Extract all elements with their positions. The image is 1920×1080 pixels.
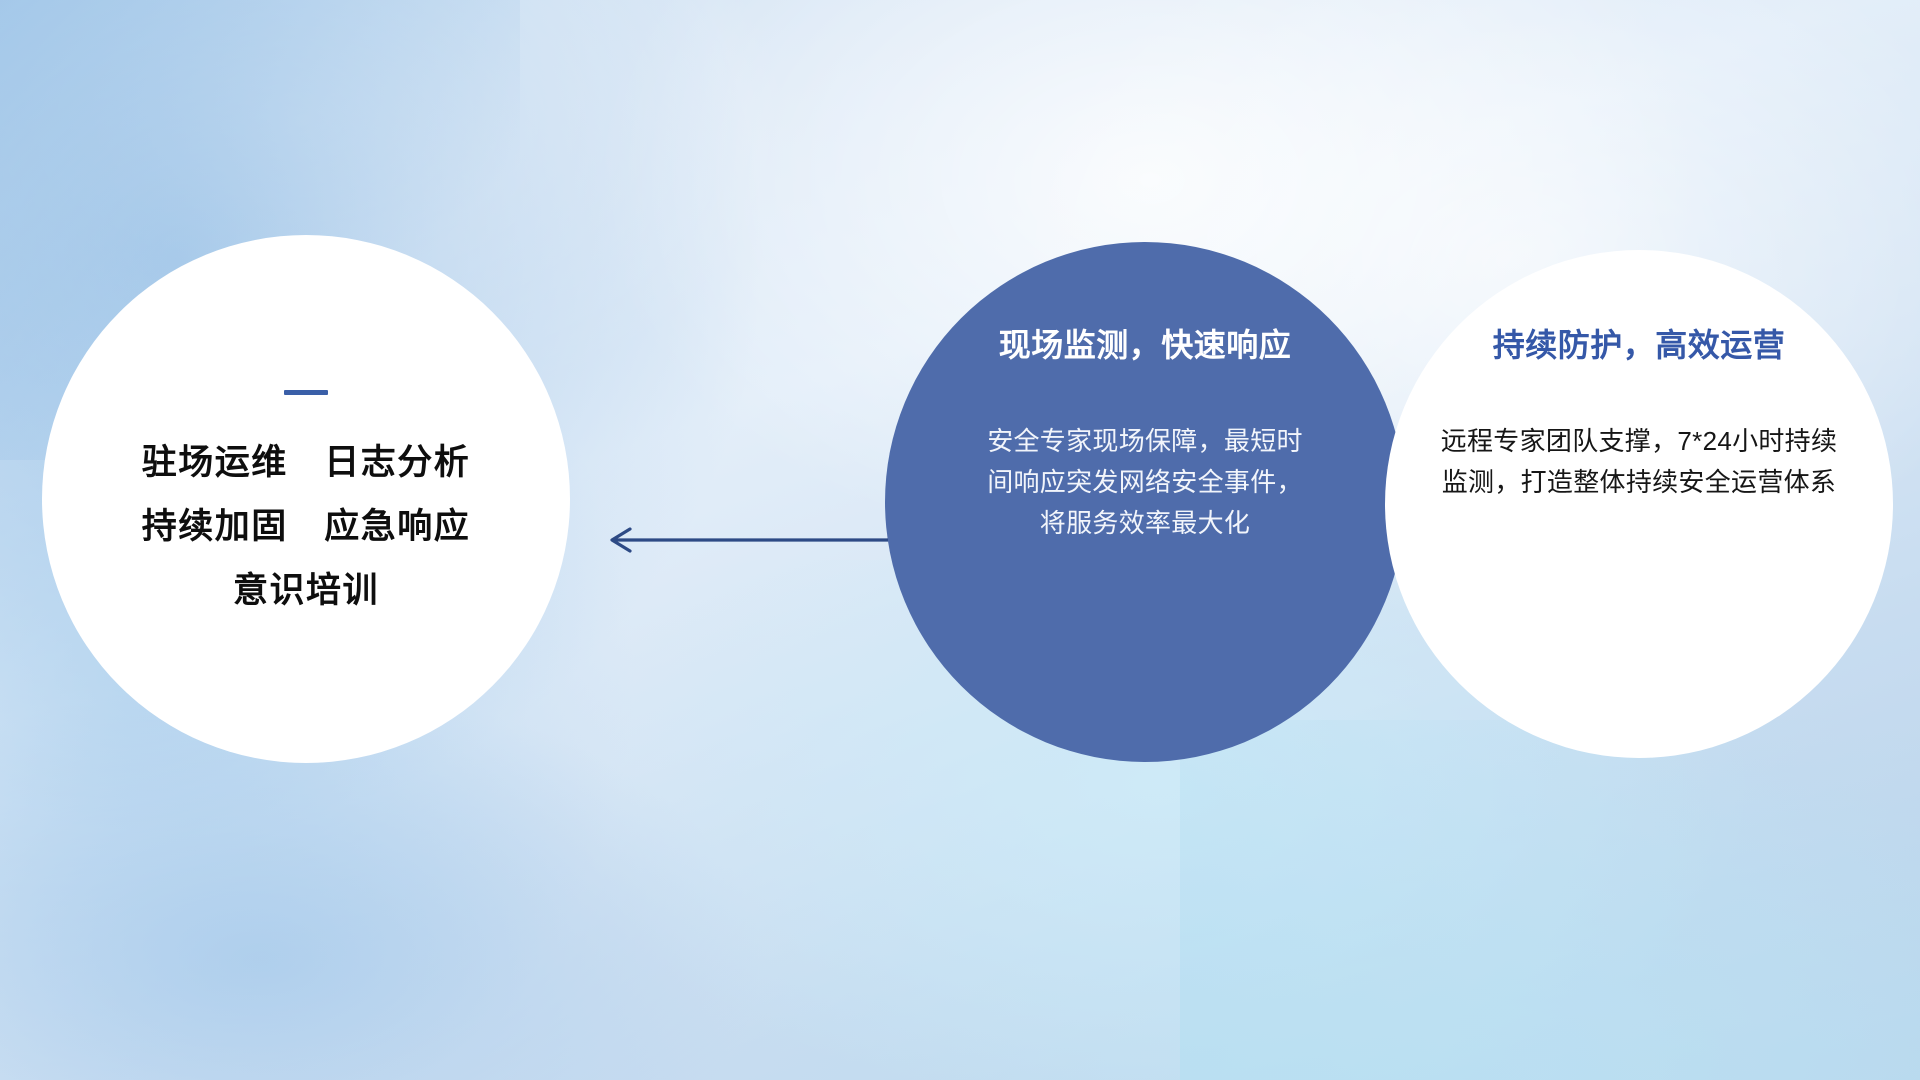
background-wash-bottom-right <box>1180 720 1920 1080</box>
right-circle-title: 持续防护，高效运营 <box>1493 328 1786 363</box>
slide-canvas: 驻场运维 日志分析 持续加固 应急响应 意识培训 现场监测，快速响应 安全专家现… <box>0 0 1920 1080</box>
list-item: 意识培训 <box>233 573 379 608</box>
mid-onsite-circle[interactable]: 现场监测，快速响应 安全专家现场保障，最短时间响应突发网络安全事件，将服务效率最… <box>885 242 1405 762</box>
flow-arrow-left-icon <box>600 520 890 560</box>
right-operations-circle[interactable]: 持续防护，高效运营 远程专家团队支撑，7*24小时持续监测，打造整体持续安全运营… <box>1385 250 1893 758</box>
left-capability-list: 驻场运维 日志分析 持续加固 应急响应 意识培训 <box>142 445 471 608</box>
list-item: 持续加固 应急响应 <box>142 509 471 544</box>
mid-circle-title: 现场监测，快速响应 <box>999 328 1292 363</box>
mid-circle-body: 安全专家现场保障，最短时间响应突发网络安全事件，将服务效率最大化 <box>980 421 1310 544</box>
left-capability-circle[interactable]: 驻场运维 日志分析 持续加固 应急响应 意识培训 <box>42 235 570 763</box>
list-item: 驻场运维 日志分析 <box>142 445 471 480</box>
divider-dash-icon <box>284 390 328 395</box>
right-circle-body: 远程专家团队支撑，7*24小时持续监测，打造整体持续安全运营体系 <box>1429 421 1849 503</box>
